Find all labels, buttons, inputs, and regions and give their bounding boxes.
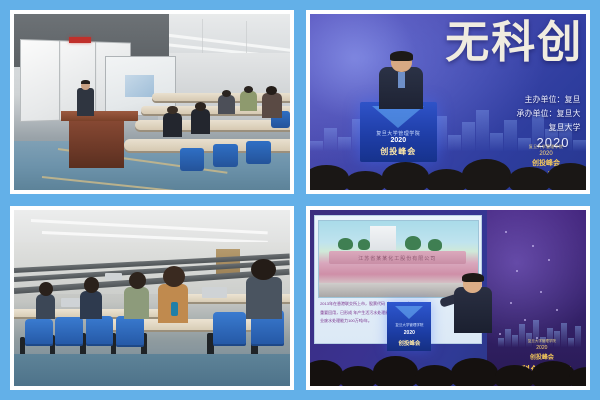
slide-campus-photo: 江苏省某某化工股份有限公司 <box>318 220 479 298</box>
photo-cell-classroom-audience-seats[interactable] <box>10 206 294 390</box>
whiteboard-divider <box>95 42 96 118</box>
auditorium-seat <box>55 317 83 345</box>
attendee <box>124 287 149 319</box>
lectern-year: 2020 <box>360 137 437 144</box>
photo-cell-lecture-hall-speaker[interactable] <box>10 10 294 194</box>
audience-head <box>382 162 429 190</box>
audience-head <box>310 360 343 386</box>
laptop <box>105 273 122 280</box>
audience-head <box>373 356 417 386</box>
audience-head <box>451 358 498 386</box>
presenter-body <box>454 287 493 333</box>
light-dot <box>548 259 550 261</box>
campus-tree <box>405 236 421 250</box>
keynote-speaker-tie <box>398 72 405 88</box>
audience-desk <box>135 120 290 131</box>
photo-grid: 无科创 主办单位：复旦 承办单位：复旦大 复旦大学 2020 复旦大学管理学院 … <box>0 0 600 400</box>
exit-sign-icon <box>69 37 91 43</box>
laptop <box>202 287 227 298</box>
audience-head <box>462 159 512 190</box>
attendee-head <box>195 102 206 111</box>
ceiling-grid-line <box>246 21 247 53</box>
attendee <box>240 91 257 110</box>
chevron-graphic-icon <box>395 306 423 319</box>
attendee-head <box>222 90 231 97</box>
lectern-year: 2020 <box>387 330 431 336</box>
audience-seat <box>246 141 271 164</box>
attendee <box>191 109 210 134</box>
attendee <box>218 95 235 114</box>
attendee <box>246 277 282 319</box>
presenter-hair <box>462 273 484 282</box>
attendee <box>163 113 182 138</box>
audience-silhouettes <box>310 144 586 190</box>
summit-stage-keynote-image: 无科创 主办单位：复旦 承办单位：复旦大 复旦大学 2020 复旦大学管理学院 … <box>310 14 586 190</box>
light-dot <box>510 302 512 304</box>
lectern-org: 复旦大学管理学院 <box>387 323 431 328</box>
campus-tree <box>428 239 442 250</box>
campus-tree <box>338 238 352 250</box>
attendee <box>262 93 281 118</box>
lectern-org: 复旦大学管理学院 <box>360 130 437 137</box>
attendee-head <box>84 277 99 293</box>
water-bottle <box>171 302 178 316</box>
audience-head <box>509 167 550 190</box>
auditorium-seat <box>213 312 246 345</box>
light-dot <box>505 231 507 233</box>
audience-head <box>346 171 385 190</box>
audience-head <box>310 165 349 190</box>
stage-headline: 无科创 <box>445 21 583 65</box>
audience-seat <box>213 144 238 167</box>
campus-sign-text: 江苏省某某化工股份有限公司 <box>329 255 466 262</box>
campus-building <box>370 226 395 250</box>
host-line-2: 复旦大学 <box>516 121 580 135</box>
audience-seat <box>180 148 205 171</box>
floor <box>14 354 290 386</box>
campus-tree <box>358 239 371 250</box>
speaker-figure <box>77 88 94 116</box>
attendee-head <box>167 106 178 115</box>
auditorium-seat <box>116 316 144 348</box>
audience-head <box>531 361 575 386</box>
audience-head <box>495 365 534 386</box>
audience-head <box>340 366 376 386</box>
audience-head <box>547 163 586 190</box>
campus-sign-wall: 江苏省某某化工股份有限公司 <box>329 251 466 263</box>
attendee <box>36 294 55 319</box>
attendee <box>80 291 102 319</box>
attendee-head <box>39 282 53 296</box>
ceiling-grid-line <box>202 19 203 54</box>
photo-cell-presentation-slide-speaker[interactable]: 江苏省某某化工股份有限公司 2013年在香港联交所上市，股票代码（HK. 005… <box>306 206 590 390</box>
lecture-hall-speaker-image <box>14 14 290 190</box>
projected-slide <box>125 75 154 97</box>
auditorium-seat <box>25 319 53 345</box>
keynote-speaker-hair <box>390 51 413 61</box>
stage-credits: 主办单位：复旦 承办单位：复旦大 复旦大学 <box>516 93 580 135</box>
photo-cell-summit-stage-keynote[interactable]: 无科创 主办单位：复旦 承办单位：复旦大 复旦大学 2020 复旦大学管理学院 … <box>306 10 590 194</box>
auditorium-seat <box>86 316 114 346</box>
photo-collage: 无科创 主办单位：复旦 承办单位：复旦大 复旦大学 2020 复旦大学管理学院 … <box>0 0 600 400</box>
whiteboard-divider <box>59 41 60 119</box>
presentation-slide-speaker-image: 江苏省某某化工股份有限公司 2013年在香港联交所上市，股票代码（HK. 005… <box>310 210 586 386</box>
laptop <box>61 298 80 307</box>
audience-head <box>415 365 454 387</box>
host-line: 承办单位：复旦大 <box>516 107 580 121</box>
light-dot <box>516 270 518 272</box>
organizer-line: 主办单位：复旦 <box>516 93 580 107</box>
light-dot <box>556 309 558 311</box>
podium-desk <box>61 111 138 122</box>
speaker-hair <box>81 80 90 84</box>
light-dot <box>532 245 534 247</box>
classroom-audience-seats-image <box>14 210 290 386</box>
audience-silhouettes <box>310 340 586 386</box>
light-dot <box>540 291 542 293</box>
